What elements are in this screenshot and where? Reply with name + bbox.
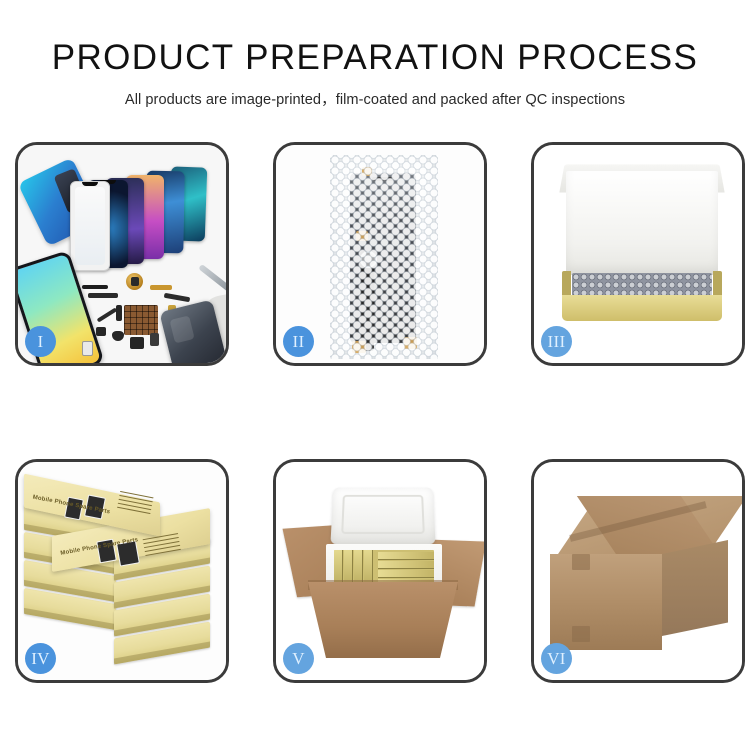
carton-side-panel (662, 540, 728, 636)
page-subtitle: All products are image-printed，film-coat… (0, 88, 750, 109)
flex-cable-part (150, 285, 172, 290)
styrofoam-lid (330, 487, 435, 544)
flex-cable-part (88, 293, 118, 298)
bubble-texture (330, 155, 438, 359)
small-component-part (116, 305, 122, 321)
carton-tape-mark (572, 554, 590, 570)
carton-tape-mark (572, 626, 590, 642)
logic-board-part (124, 305, 158, 335)
step-badge-6: VI (541, 643, 572, 674)
box-front-panel (562, 295, 722, 321)
small-component-part (130, 337, 144, 349)
process-step-card-1[interactable]: I (15, 142, 229, 366)
step-badge-3: III (541, 326, 572, 357)
step-badge-5: V (283, 643, 314, 674)
process-step-card-2[interactable]: II (273, 142, 487, 366)
carton-front-panel (550, 554, 662, 650)
page-title: PRODUCT PREPARATION PROCESS (0, 40, 750, 77)
speaker-coil-part (126, 273, 143, 290)
carton-body (308, 582, 458, 658)
process-step-card-4[interactable]: Mobile Phone Spare Parts Mobile Phone Sp… (15, 459, 229, 683)
foam-insert (566, 171, 718, 275)
process-step-grid: I II (15, 142, 735, 683)
step-badge-2: II (283, 326, 314, 357)
small-component-part (150, 333, 159, 346)
step-badge-4: IV (25, 643, 56, 674)
step-badge-1: I (25, 326, 56, 357)
flex-cable-part (82, 285, 108, 289)
process-step-card-3[interactable]: III (531, 142, 745, 366)
page-header: PRODUCT PREPARATION PROCESS All products… (0, 0, 750, 109)
process-step-card-5[interactable]: V (273, 459, 487, 683)
small-component-part (82, 341, 93, 356)
process-step-card-6[interactable]: VI (531, 459, 745, 683)
small-component-part (96, 327, 106, 336)
bubble-wrap-bag (330, 155, 438, 359)
